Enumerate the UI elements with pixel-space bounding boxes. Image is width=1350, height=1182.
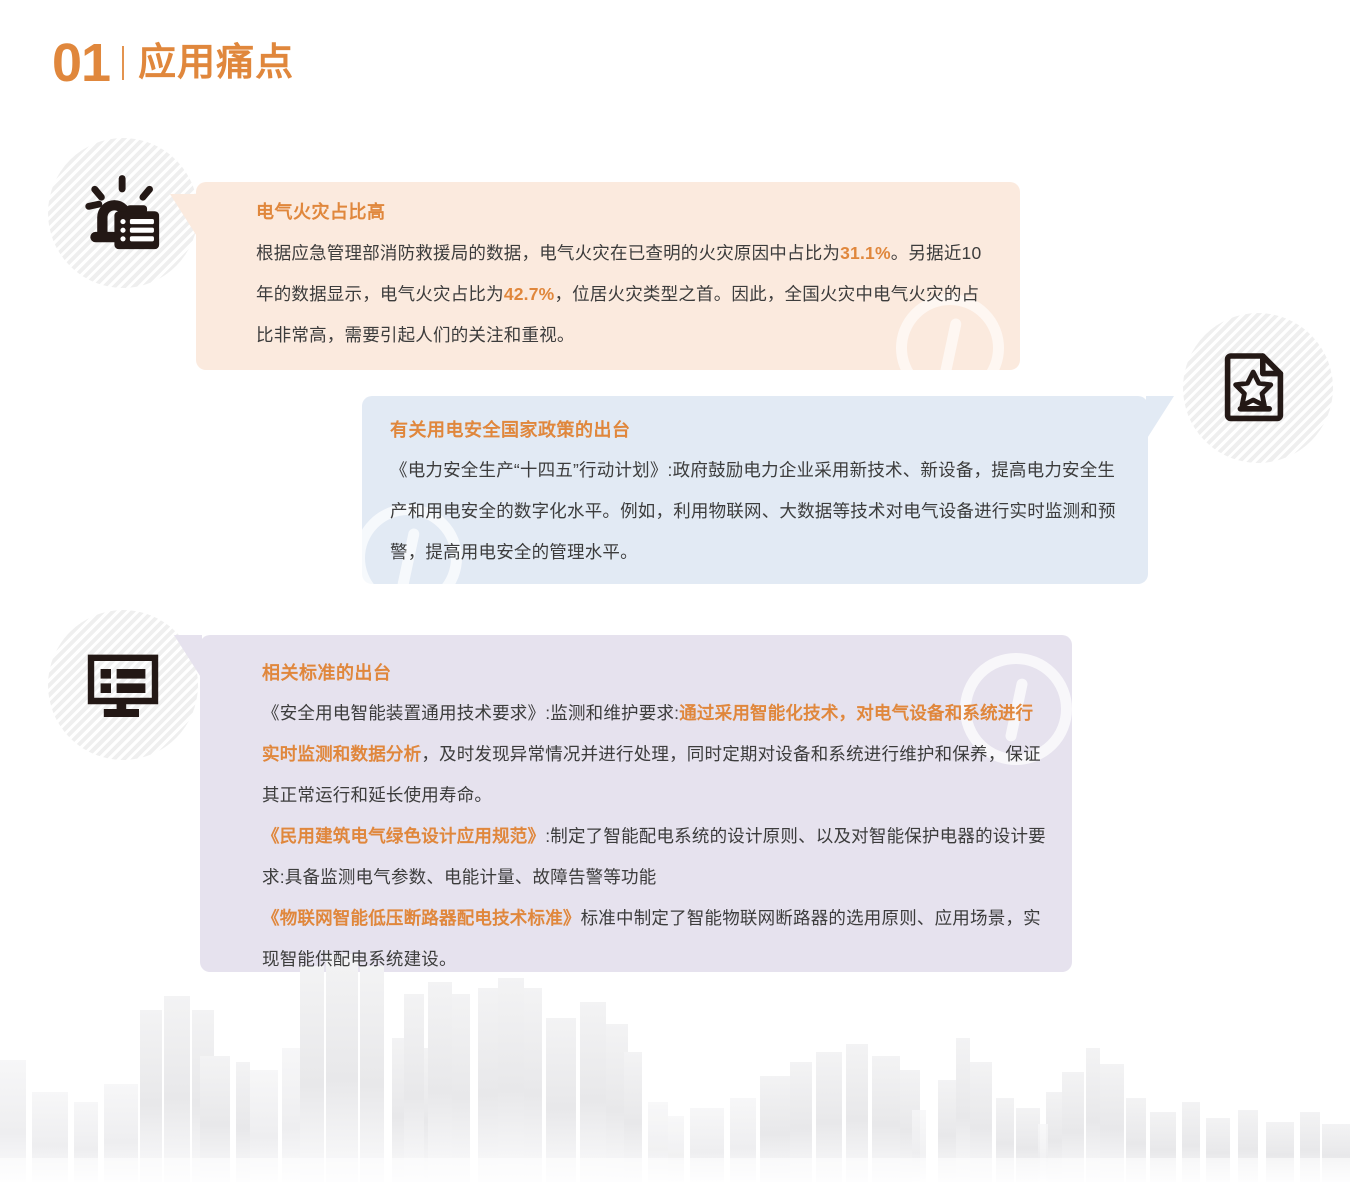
highlighted-text: 31.1% — [840, 243, 891, 263]
page-header: 01 应用痛点 — [52, 36, 294, 90]
paragraph: 《物联网智能低压断路器配电技术标准》标准中制定了智能物联网断路器的选用原则、应用… — [262, 898, 1048, 980]
card-body: 《安全用电智能装置通用技术要求》:监测和维护要求:通过采用智能化技术，对电气设备… — [262, 693, 1048, 980]
card-tail — [1146, 396, 1174, 440]
highlighted-text: 《物联网智能低压断路器配电技术标准》 — [262, 908, 581, 928]
card-related-standards: 相关标准的出台 《安全用电智能装置通用技术要求》:监测和维护要求:通过采用智能化… — [200, 635, 1072, 972]
paragraph: 根据应急管理部消防救援局的数据，电气火灾在已查明的火灾原因中占比为31.1%。另… — [256, 233, 992, 356]
card-electrical-fire-ratio: 电气火灾占比高 根据应急管理部消防救援局的数据，电气火灾在已查明的火灾原因中占比… — [196, 182, 1020, 370]
city-skyline — [0, 952, 1350, 1182]
card-tail — [174, 635, 202, 679]
card-heading: 相关标准的出台 — [262, 663, 1048, 685]
card-tail — [170, 194, 198, 238]
page-title: 应用痛点 — [138, 44, 294, 82]
certificate-star-document-icon — [1183, 313, 1333, 463]
body-text: 《安全用电智能装置通用技术要求》:监测和维护要求: — [262, 703, 679, 723]
paragraph: 《安全用电智能装置通用技术要求》:监测和维护要求:通过采用智能化技术，对电气设备… — [262, 693, 1048, 816]
paragraph: 《民用建筑电气绿色设计应用规范》:制定了智能配电系统的设计原则、以及对智能保护电… — [262, 816, 1048, 898]
card-body: 《电力安全生产“十四五”行动计划》:政府鼓励电力企业采用新技术、新设备，提高电力… — [390, 450, 1124, 573]
section-number: 01 — [52, 36, 110, 90]
highlighted-text: 《民用建筑电气绿色设计应用规范》 — [262, 826, 545, 846]
highlighted-text: 42.7% — [504, 284, 555, 304]
card-heading: 有关用电安全国家政策的出台 — [390, 420, 1124, 442]
body-text: 《电力安全生产“十四五”行动计划》:政府鼓励电力企业采用新技术、新设备，提高电力… — [390, 460, 1116, 562]
paragraph: 《电力安全生产“十四五”行动计划》:政府鼓励电力企业采用新技术、新设备，提高电力… — [390, 450, 1124, 573]
card-heading: 电气火灾占比高 — [256, 202, 992, 224]
card-body: 根据应急管理部消防救援局的数据，电气火灾在已查明的火灾原因中占比为31.1%。另… — [256, 233, 992, 356]
monitor-list-icon — [48, 610, 198, 760]
body-text: 根据应急管理部消防救援局的数据，电气火灾在已查明的火灾原因中占比为 — [256, 243, 840, 263]
card-national-policy: 有关用电安全国家政策的出台 《电力安全生产“十四五”行动计划》:政府鼓励电力企业… — [362, 396, 1148, 584]
header-divider — [122, 46, 124, 80]
